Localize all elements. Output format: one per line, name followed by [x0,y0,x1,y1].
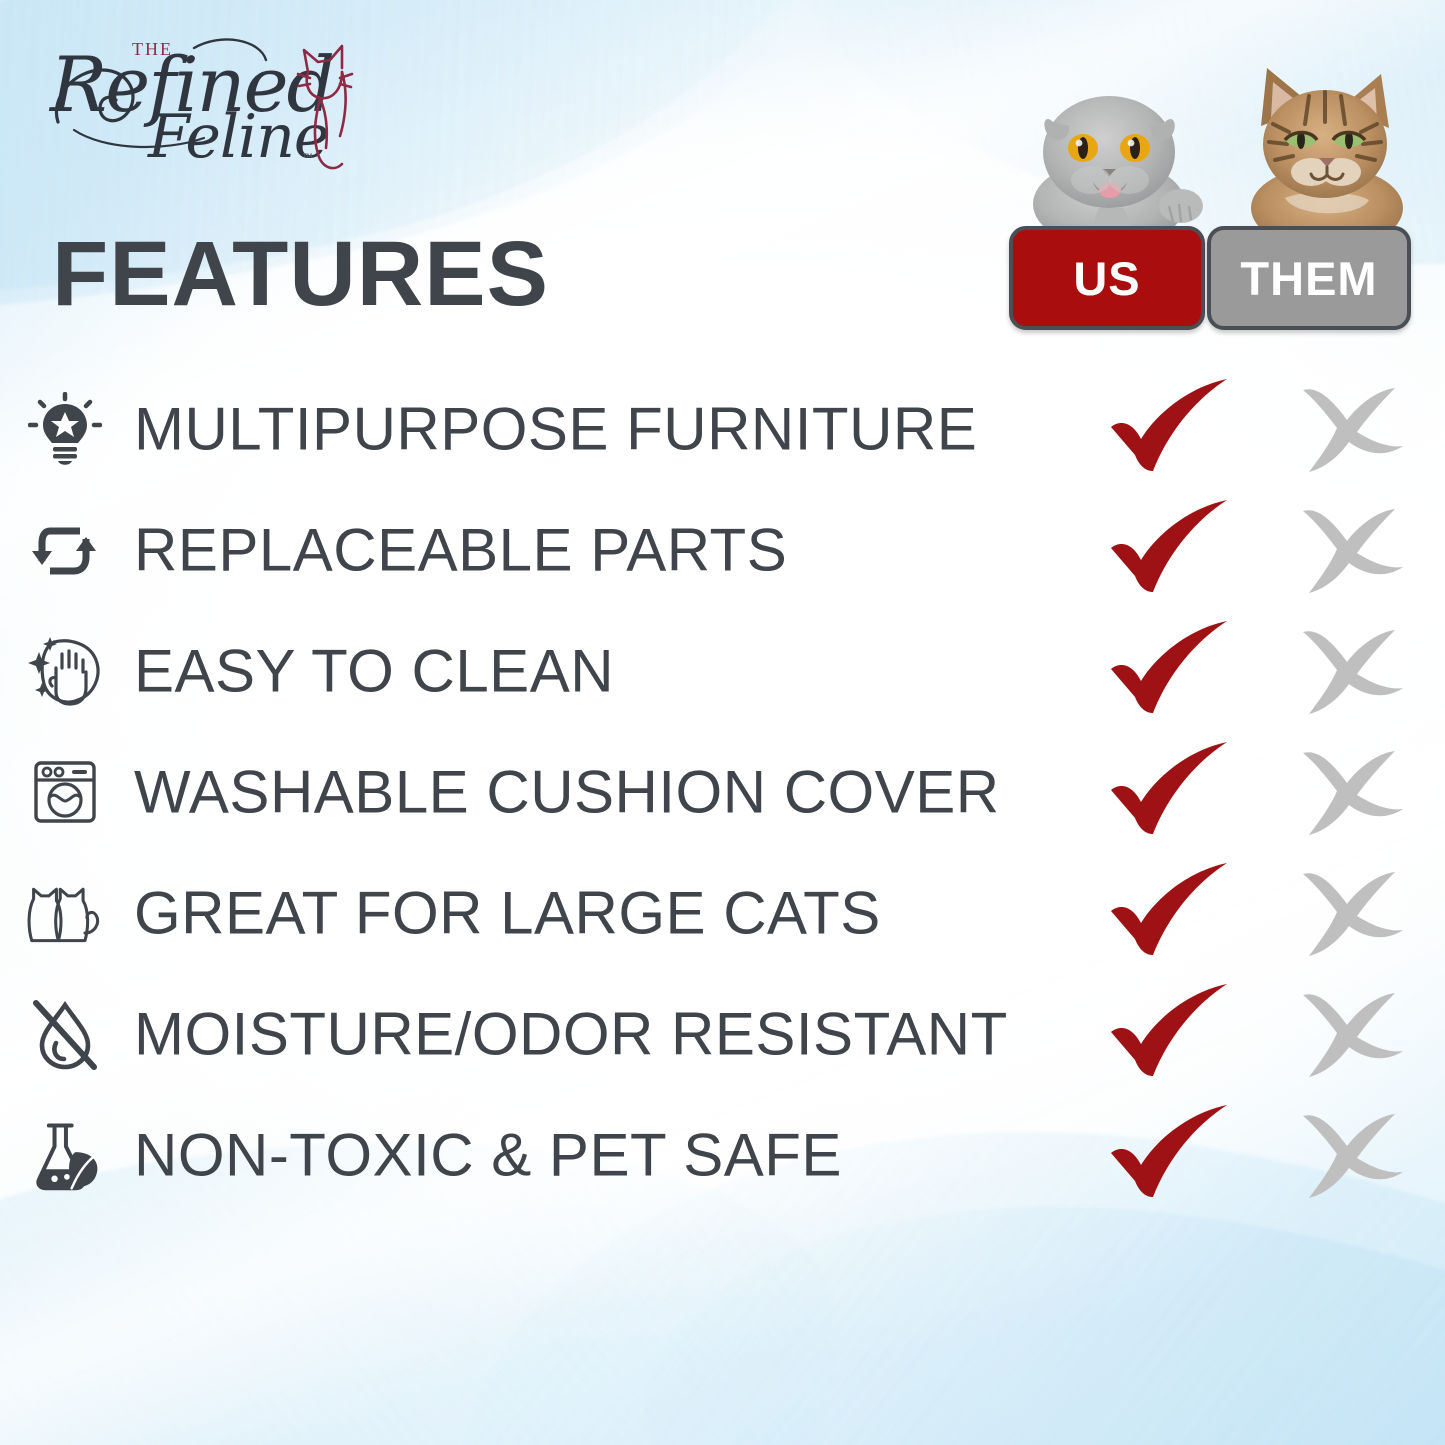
check-mark-icon [1105,379,1235,479]
cross-mark-icon [1295,747,1405,837]
them-badge-label: THEM [1240,255,1377,302]
feature-row: MOISTURE/ODOR RESISTANT [0,973,1445,1094]
us-badge[interactable]: US [1009,226,1205,330]
check-mark-icon [1105,500,1235,600]
feature-row: NON-TOXIC & PET SAFE [0,1094,1445,1215]
feature-label: EASY TO CLEAN [134,636,614,705]
feature-label: NON-TOXIC & PET SAFE [134,1120,842,1189]
grey-scottish-fold-cat-photo [1013,56,1213,246]
them-badge[interactable]: THEM [1207,226,1411,330]
hand-wiping-sparkle-icon [26,632,104,710]
feature-label: WASHABLE CUSHION COVER [134,757,1000,826]
us-badge-label: US [1073,255,1140,302]
brown-tabby-cat-photo [1223,48,1423,243]
features-list: MULTIPURPOSE FURNITURE REPLACE [0,368,1445,1215]
cross-mark-icon [1295,868,1405,958]
feature-row: WASHABLE CUSHION COVER [0,731,1445,852]
two-cats-icon [26,874,104,952]
cat-silhouette-icon [296,38,354,178]
check-mark-icon [1105,1105,1235,1205]
feature-row: REPLACEABLE PARTS [0,489,1445,610]
feature-row: EASY TO CLEAN [0,610,1445,731]
check-mark-icon [1105,621,1235,721]
lightbulb-star-icon [26,390,104,468]
feature-row: GREAT FOR LARGE CATS [0,852,1445,973]
cross-mark-icon [1295,989,1405,1079]
cross-mark-icon [1295,505,1405,595]
check-mark-icon [1105,742,1235,842]
feature-label: GREAT FOR LARGE CATS [134,878,881,947]
feature-row: MULTIPURPOSE FURNITURE [0,368,1445,489]
cross-mark-icon [1295,1110,1405,1200]
check-mark-icon [1105,984,1235,1084]
feature-label: MOISTURE/ODOR RESISTANT [134,999,1008,1068]
feature-label: MULTIPURPOSE FURNITURE [134,394,977,463]
brand-logo: The Refined Feline ™ [44,26,344,176]
feature-label: REPLACEABLE PARTS [134,515,787,584]
comparison-header: US THEM [1007,48,1437,348]
washing-machine-icon [26,753,104,831]
check-mark-icon [1105,863,1235,963]
cross-mark-icon [1295,384,1405,474]
flask-leaf-icon [26,1116,104,1194]
page-title: FEATURES [52,228,549,320]
recycle-arrows-icon [26,511,104,589]
no-water-droplet-icon [26,995,104,1073]
features-comparison-poster: The Refined Feline ™ FEATURES [0,0,1445,1445]
cross-mark-icon [1295,626,1405,716]
